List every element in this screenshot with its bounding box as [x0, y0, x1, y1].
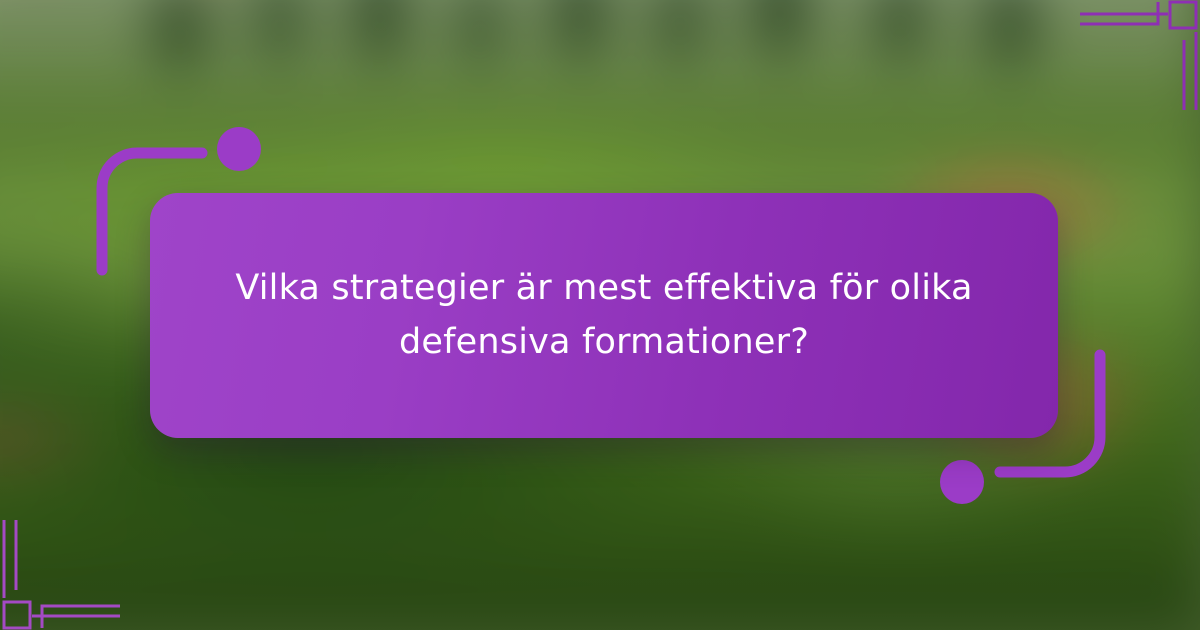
- social-card-canvas: Vilka strategier är mest effektiva för o…: [0, 0, 1200, 630]
- question-text: Vilka strategier är mest effektiva för o…: [234, 262, 974, 368]
- question-card: Vilka strategier är mest effektiva för o…: [150, 193, 1058, 438]
- circle-dot-top-icon: [217, 127, 261, 171]
- circle-dot-bottom-icon: [940, 460, 984, 504]
